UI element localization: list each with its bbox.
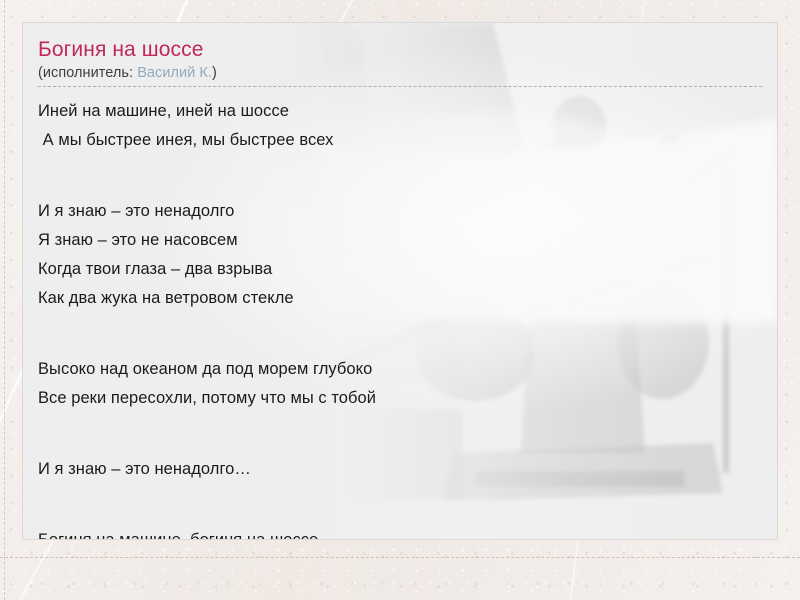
lyric-line: Все реки пересохли, потому что мы с тобо… (38, 384, 762, 413)
lyric-line: Как два жука на ветровом стекле (38, 284, 762, 313)
lyric-line: Богиня на машине, богиня на шоссе (38, 526, 762, 540)
subtitle-prefix: (исполнитель: (38, 65, 137, 81)
subtitle-suffix: ) (212, 65, 217, 81)
lyric-line: И я знаю – это ненадолго (38, 197, 762, 226)
performer-link[interactable]: Василий К. (137, 65, 212, 81)
lyric-line: А мы быстрее инея, мы быстрее всех (38, 126, 762, 155)
slide-title: Богиня на шоссе (38, 37, 762, 63)
lyric-line: Иней на машине, иней на шоссе (38, 97, 762, 126)
title-divider (38, 86, 762, 87)
lyric-line: И я знаю – это ненадолго… (38, 455, 762, 484)
lyric-line: Высоко над океаном да под морем глубоко (38, 355, 762, 384)
slide-content: Богиня на шоссе (исполнитель: Василий К.… (38, 37, 762, 540)
lyric-spacer (38, 176, 762, 197)
lyric-spacer (38, 434, 762, 455)
lyric-spacer (38, 505, 762, 526)
slide-subtitle: (исполнитель: Василий К.) (38, 64, 762, 83)
lyric-spacer (38, 155, 762, 176)
lyric-spacer (38, 313, 762, 334)
lyric-spacer (38, 413, 762, 434)
lyric-line: Когда твои глаза – два взрыва (38, 255, 762, 284)
lyric-line: Я знаю – это не насовсем (38, 226, 762, 255)
lyric-spacer (38, 484, 762, 505)
lyrics-block: Иней на машине, иней на шоссе А мы быстр… (38, 97, 762, 540)
slide-card[interactable]: Богиня на шоссе (исполнитель: Василий К.… (22, 22, 778, 540)
lyric-spacer (38, 334, 762, 355)
